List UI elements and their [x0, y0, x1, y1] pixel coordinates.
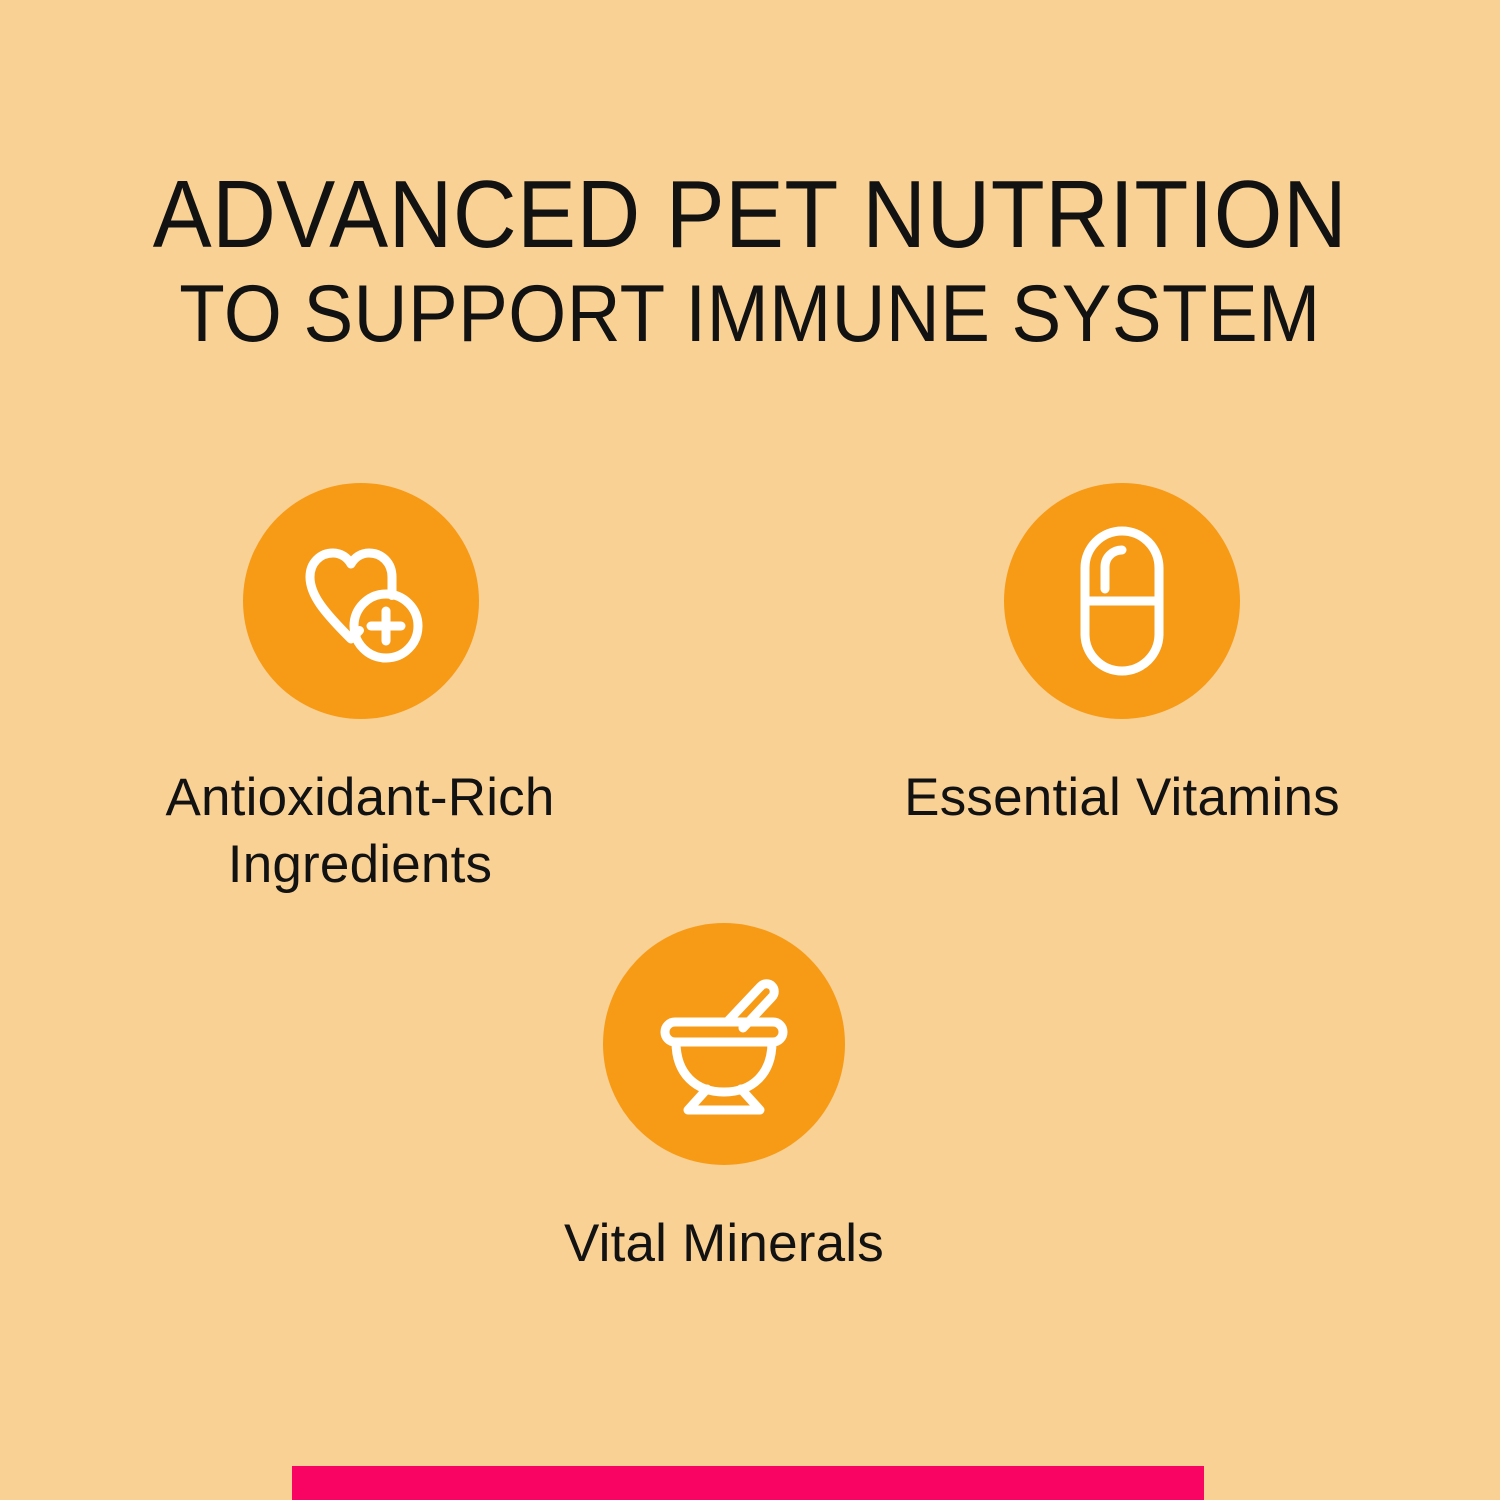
mortar-pestle-icon	[649, 970, 799, 1118]
icon-badge-vitamins	[1004, 483, 1240, 719]
icon-badge-antioxidant	[243, 483, 479, 719]
heading-block: ADVANCED PET NUTRITION TO SUPPORT IMMUNE…	[0, 168, 1500, 355]
feature-label-antioxidant: Antioxidant-Rich Ingredients	[55, 765, 665, 899]
feature-label-vitamins: Essential Vitamins	[822, 765, 1422, 832]
heart-plus-icon	[291, 533, 431, 669]
feature-antioxidant-rich-ingredients: Antioxidant-Rich Ingredients	[55, 483, 665, 899]
icon-badge-minerals	[603, 923, 845, 1165]
page-title: ADVANCED PET NUTRITION	[60, 168, 1440, 262]
infographic-poster: ADVANCED PET NUTRITION TO SUPPORT IMMUNE…	[0, 0, 1500, 1500]
feature-label-minerals: Vital Minerals	[424, 1211, 1024, 1278]
feature-essential-vitamins: Essential Vitamins	[822, 483, 1422, 832]
bottom-accent-bar	[292, 1466, 1204, 1500]
feature-vital-minerals: Vital Minerals	[424, 923, 1024, 1278]
page-subtitle: TO SUPPORT IMMUNE SYSTEM	[60, 274, 1440, 355]
capsule-pill-icon	[1067, 521, 1177, 681]
